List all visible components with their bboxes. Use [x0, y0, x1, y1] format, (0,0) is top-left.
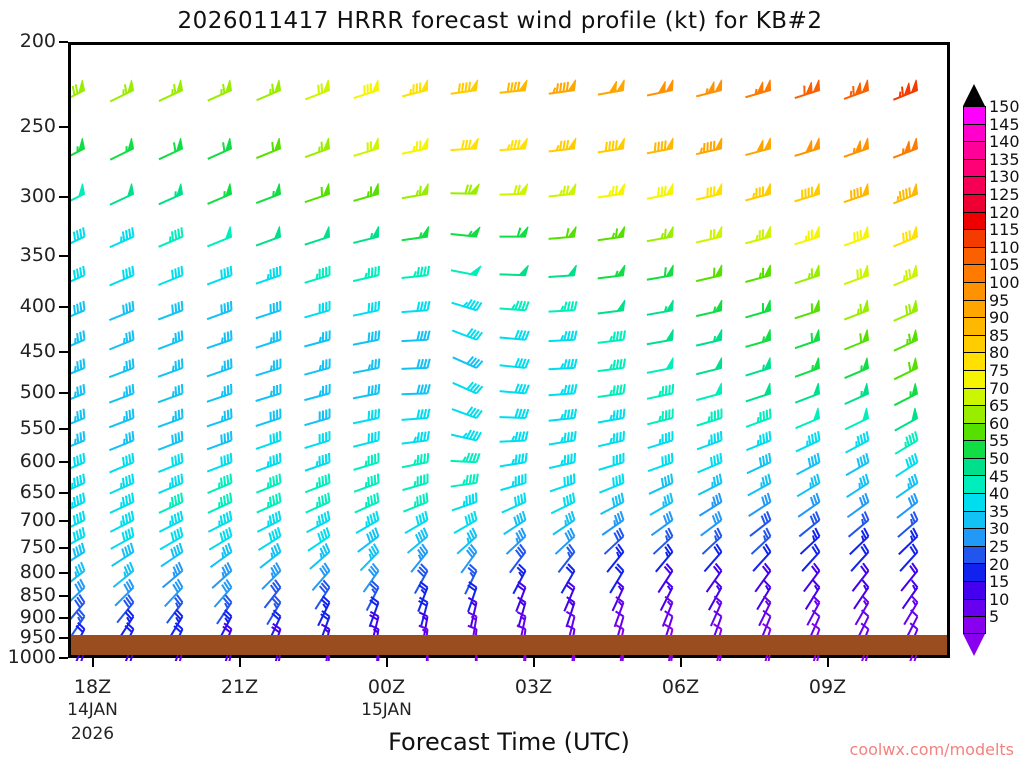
colorbar-cell [963, 493, 986, 511]
x-axis-tick [239, 658, 241, 667]
colorbar-cell [963, 388, 986, 406]
y-axis-tick-label: 850 [20, 584, 56, 606]
colorbar-tick-label: 135 [989, 150, 1020, 169]
colorbar-cell [963, 124, 986, 142]
y-axis-tick [59, 547, 68, 549]
x-axis-tick [827, 658, 829, 667]
colorbar-cell [963, 264, 986, 282]
colorbar-cell [963, 616, 986, 634]
colorbar-cell [963, 176, 986, 194]
y-axis-tick [59, 572, 68, 574]
colorbar-cell [963, 159, 986, 177]
x-axis-tick-label: 00Z [327, 676, 447, 698]
colorbar-swatches [963, 106, 986, 634]
y-axis-tick [59, 617, 68, 619]
colorbar-tick-label: 60 [989, 414, 1009, 433]
x-axis-title: Forecast Time (UTC) [68, 728, 950, 756]
y-axis-tick-label: 800 [20, 561, 56, 583]
colorbar-tick-label: 35 [989, 502, 1009, 521]
colorbar-tick-label: 65 [989, 396, 1009, 415]
colorbar-cell [963, 141, 986, 159]
colorbar-tick-label: 20 [989, 555, 1009, 574]
colorbar-cell [963, 212, 986, 230]
y-axis-tick [59, 392, 68, 394]
colorbar-tick-label: 105 [989, 255, 1020, 274]
x-axis-tick [92, 658, 94, 667]
colorbar-tick-label: 15 [989, 572, 1009, 591]
colorbar-tick-label: 115 [989, 220, 1020, 239]
colorbar-cell [963, 475, 986, 493]
colorbar-cell [963, 300, 986, 318]
colorbar-cell [963, 317, 986, 335]
y-axis-tick-label: 200 [20, 30, 56, 52]
x-axis-tick [533, 658, 535, 667]
x-axis-tick-label: 06Z [621, 676, 741, 698]
colorbar-under-arrow-icon [963, 634, 985, 656]
y-axis-tick [59, 657, 68, 659]
colorbar-tick-label: 75 [989, 361, 1009, 380]
y-axis-tick-label: 300 [20, 185, 56, 207]
colorbar-tick-label: 110 [989, 238, 1020, 257]
colorbar-tick-label: 30 [989, 519, 1009, 538]
y-axis-tick [59, 41, 68, 43]
y-axis-tick [59, 637, 68, 639]
wind-barb-field [71, 45, 953, 661]
colorbar-tick-label: 55 [989, 431, 1009, 450]
colorbar-cell [963, 423, 986, 441]
colorbar-legend: 1501451401351301251201151101051009590858… [960, 84, 1024, 654]
colorbar-cell [963, 458, 986, 476]
colorbar-cell [963, 247, 986, 265]
y-axis-tick [59, 351, 68, 353]
y-axis-tick [59, 428, 68, 430]
colorbar-over-arrow-icon [963, 84, 985, 106]
colorbar-tick-label: 150 [989, 97, 1020, 116]
colorbar-cell [963, 194, 986, 212]
page-title: 2026011417 HRRR forecast wind profile (k… [0, 8, 1000, 34]
colorbar-tick-label: 120 [989, 203, 1020, 222]
colorbar-tick-label: 140 [989, 132, 1020, 151]
colorbar-tick-label: 5 [989, 607, 999, 626]
colorbar-tick-label: 85 [989, 326, 1009, 345]
x-axis-tick-label: 18Z [33, 676, 153, 698]
x-axis-date-label: 14JAN [33, 700, 153, 720]
y-axis-tick-label: 700 [20, 509, 56, 531]
y-axis-tick-label: 550 [20, 417, 56, 439]
y-axis-tick [59, 595, 68, 597]
y-axis-tick [59, 520, 68, 522]
colorbar-cell [963, 546, 986, 564]
watermark: coolwx.com/modelts [850, 740, 1014, 759]
colorbar-tick-label: 145 [989, 115, 1020, 134]
y-axis-tick [59, 492, 68, 494]
x-axis-date-label: 15JAN [327, 700, 447, 720]
wind-profile-chart: 2026011417 HRRR forecast wind profile (k… [0, 0, 1024, 768]
y-axis-tick-label: 1000 [8, 646, 56, 668]
colorbar-tick-label: 90 [989, 308, 1009, 327]
colorbar-cell [963, 335, 986, 353]
colorbar-cell [963, 370, 986, 388]
colorbar-cell [963, 440, 986, 458]
y-axis-tick [59, 306, 68, 308]
colorbar-tick-label: 100 [989, 273, 1020, 292]
colorbar-tick-label: 25 [989, 537, 1009, 556]
colorbar-tick-label: 70 [989, 379, 1009, 398]
colorbar-tick-label: 50 [989, 449, 1009, 468]
x-axis-tick [386, 658, 388, 667]
x-axis-tick-label: 03Z [474, 676, 594, 698]
x-axis-tick-label: 21Z [180, 676, 300, 698]
colorbar-cell [963, 106, 986, 124]
colorbar-cell [963, 229, 986, 247]
y-axis-tick-label: 400 [20, 295, 56, 317]
colorbar-tick-label: 45 [989, 467, 1009, 486]
plot-area [68, 42, 950, 658]
y-axis-tick-label: 450 [20, 340, 56, 362]
y-axis-tick [59, 196, 68, 198]
y-axis-tick-label: 500 [20, 381, 56, 403]
colorbar-tick-label: 80 [989, 343, 1009, 362]
y-axis-tick-label: 250 [20, 115, 56, 137]
colorbar-cell [963, 581, 986, 599]
colorbar-cell [963, 599, 986, 617]
colorbar-cell [963, 528, 986, 546]
y-axis-tick-label: 900 [20, 606, 56, 628]
terrain-band [71, 635, 947, 655]
y-axis-tick [59, 255, 68, 257]
x-axis-tick [680, 658, 682, 667]
y-axis-tick [59, 126, 68, 128]
colorbar-tick-label: 125 [989, 185, 1020, 204]
y-axis-tick-label: 750 [20, 536, 56, 558]
colorbar-cell [963, 405, 986, 423]
colorbar-tick-label: 130 [989, 167, 1020, 186]
y-axis-tick-label: 600 [20, 450, 56, 472]
colorbar-tick-label: 40 [989, 484, 1009, 503]
colorbar-cell [963, 511, 986, 529]
colorbar-cell [963, 282, 986, 300]
x-axis-tick-label: 09Z [768, 676, 888, 698]
colorbar-tick-label: 95 [989, 291, 1009, 310]
colorbar-cell [963, 563, 986, 581]
y-axis-tick-label: 350 [20, 244, 56, 266]
colorbar-tick-label: 10 [989, 590, 1009, 609]
colorbar-cell [963, 352, 986, 370]
y-axis-tick-label: 650 [20, 481, 56, 503]
y-axis-tick [59, 461, 68, 463]
